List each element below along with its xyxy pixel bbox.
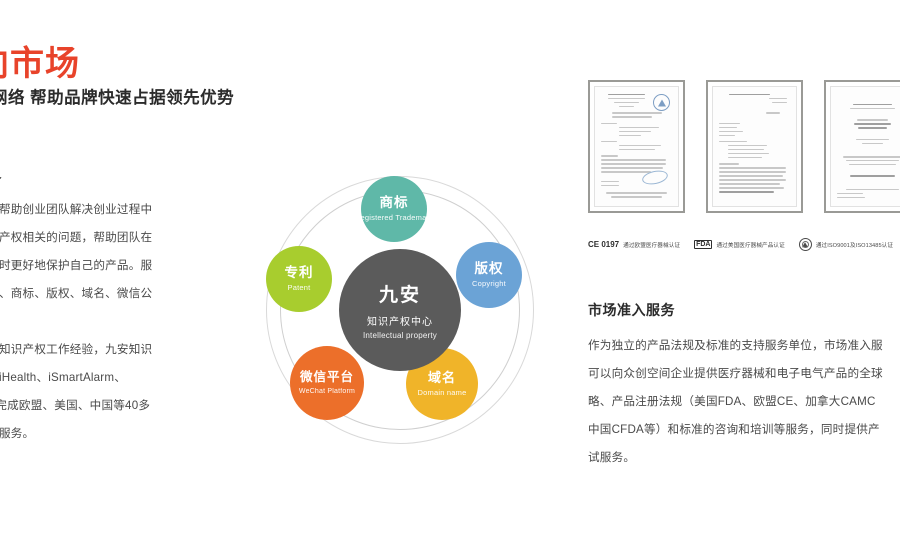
paragraph-line: 略、产品注册法规（美国FDA、欧盟CE、加拿大CAMC — [588, 388, 900, 416]
certification-seal-icon — [653, 94, 670, 111]
certificate-image-iso[interactable] — [824, 80, 900, 213]
certificate-document-body — [594, 86, 679, 207]
paragraph-line: 试服务。 — [588, 444, 900, 472]
ip-service-section-title: 产权服务 — [0, 168, 2, 189]
right-content-column: CE 0197 通过欧盟医疗器械认证 FDA 通过美国医疗器械产品认证 通过IS… — [588, 0, 900, 540]
diagram-node-trademark[interactable]: 商标 Registered Trademark — [361, 176, 427, 242]
paragraph-line: 的所有知识产权相关的问题，帮助团队在 — [0, 224, 270, 252]
iso-badge-icon — [799, 238, 812, 251]
paragraph-line: 的注册申请服务。 — [0, 420, 270, 448]
certificate-gallery — [588, 80, 900, 213]
paragraph-line: 权服务中心帮助创业团队解决创业过程中 — [0, 196, 270, 224]
market-access-paragraph: 作为独立的产品法规及标准的支持服务单位，市场准入服 可以向众创空间企业提供医疗器… — [588, 332, 900, 472]
node-label-cn: 版权 — [475, 261, 504, 277]
node-label-en: WeChat Platform — [299, 388, 355, 396]
paragraph-line: 等。 — [0, 308, 270, 336]
node-label-en: Copyright — [472, 280, 506, 289]
page-subheadline: 球营销网络 帮助品牌快速占据领先优势 — [0, 84, 234, 108]
paragraph-line: 年国际国内知识产权工作经验，九安知识 — [0, 336, 270, 364]
market-access-section-title: 市场准入服务 — [588, 300, 675, 320]
node-label-en: Patent — [288, 284, 311, 293]
diagram-node-wechat-platform[interactable]: 微信平台 WeChat Platform — [290, 346, 364, 420]
ip-service-paragraph-2: 年国际国内知识产权工作经验，九安知识 已为九安、iHealth、iSmartAl… — [0, 336, 270, 448]
hub-english: Intellectual property — [363, 331, 437, 340]
page-headline: 走向市场 — [0, 36, 80, 85]
ip-center-circle-diagram: 商标 Registered Trademark 专利 Patent 版权 Cop… — [258, 168, 543, 453]
node-label-en: Registered Trademark — [355, 214, 433, 223]
fda-mark-icon: FDA — [694, 240, 712, 249]
paragraph-line: 可以向众创空间企业提供医疗器械和电子电气产品的全球 — [588, 360, 900, 388]
certificate-image-fda[interactable] — [706, 80, 803, 213]
node-label-cn: 微信平台 — [300, 370, 354, 384]
node-label-cn: 专利 — [285, 265, 314, 281]
certificate-caption-iso: 通过ISO9001及ISO13485认证 — [799, 238, 893, 251]
paragraph-line: Sky等品牌完成欧盟、美国、中国等40多 — [0, 392, 270, 420]
certificate-document-body — [830, 86, 900, 207]
certificate-caption-row: CE 0197 通过欧盟医疗器械认证 FDA 通过美国医疗器械产品认证 通过IS… — [588, 238, 893, 251]
hub-subtitle: 知识产权中心 — [367, 313, 433, 328]
node-label-en: Domain name — [418, 389, 467, 398]
certificate-document-body — [712, 86, 797, 207]
ip-service-paragraph-1: 权服务中心帮助创业团队解决创业过程中 的所有知识产权相关的问题，帮助团队在 权风… — [0, 196, 270, 336]
paragraph-line: 涉及：专利、商标、版权、域名、微信公 — [0, 280, 270, 308]
caption-text: 通过欧盟医疗器械认证 — [623, 241, 680, 249]
paragraph-line: 中国CFDA等）和标准的咨询和培训等服务，同时提供产 — [588, 416, 900, 444]
caption-text: 通过ISO9001及ISO13485认证 — [816, 241, 893, 249]
paragraph-line: 权风险的同时更好地保护自己的产品。服 — [0, 252, 270, 280]
ce-mark-icon: CE 0197 — [588, 240, 619, 249]
paragraph-line: 作为独立的产品法规及标准的支持服务单位，市场准入服 — [588, 332, 900, 360]
node-label-cn: 域名 — [428, 371, 456, 386]
paragraph-line: 已为九安、iHealth、iSmartAlarm、 — [0, 364, 270, 392]
node-label-cn: 商标 — [380, 195, 409, 211]
certificate-caption-ce: CE 0197 通过欧盟医疗器械认证 — [588, 240, 680, 249]
diagram-center-hub[interactable]: 九安 知识产权中心 Intellectual property — [339, 249, 461, 371]
certificate-caption-fda: FDA 通过美国医疗器械产品认证 — [694, 240, 785, 249]
certificate-image-ce[interactable] — [588, 80, 685, 213]
diagram-node-copyright[interactable]: 版权 Copyright — [456, 242, 522, 308]
caption-text: 通过美国医疗器械产品认证 — [716, 241, 784, 249]
diagram-node-patent[interactable]: 专利 Patent — [266, 246, 332, 312]
page-root: 走向市场 球营销网络 帮助品牌快速占据领先优势 产权服务 权服务中心帮助创业团队… — [0, 0, 900, 540]
hub-title: 九安 — [379, 280, 421, 307]
left-content-column: 走向市场 球营销网络 帮助品牌快速占据领先优势 产权服务 权服务中心帮助创业团队… — [0, 0, 260, 540]
